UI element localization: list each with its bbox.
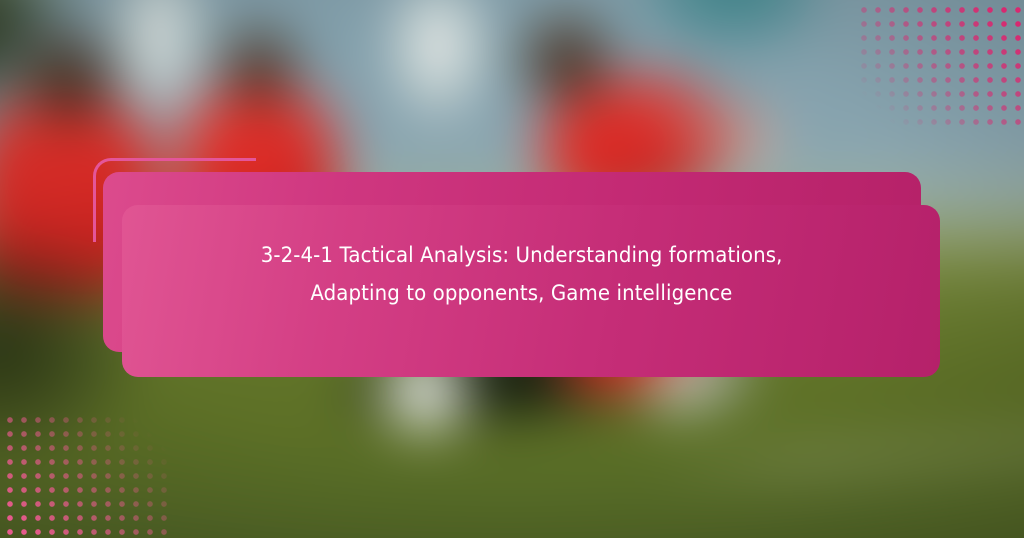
header-card-stage: 3-2-4-1 Tactical Analysis: Understanding… — [0, 0, 1024, 538]
card-title-block: 3-2-4-1 Tactical Analysis: Understanding… — [103, 172, 940, 377]
page-title-line-2: Adapting to opponents, Game intelligence — [311, 275, 733, 313]
title-card: 3-2-4-1 Tactical Analysis: Understanding… — [0, 0, 1024, 538]
page-title-line-1: 3-2-4-1 Tactical Analysis: Understanding… — [261, 237, 783, 275]
